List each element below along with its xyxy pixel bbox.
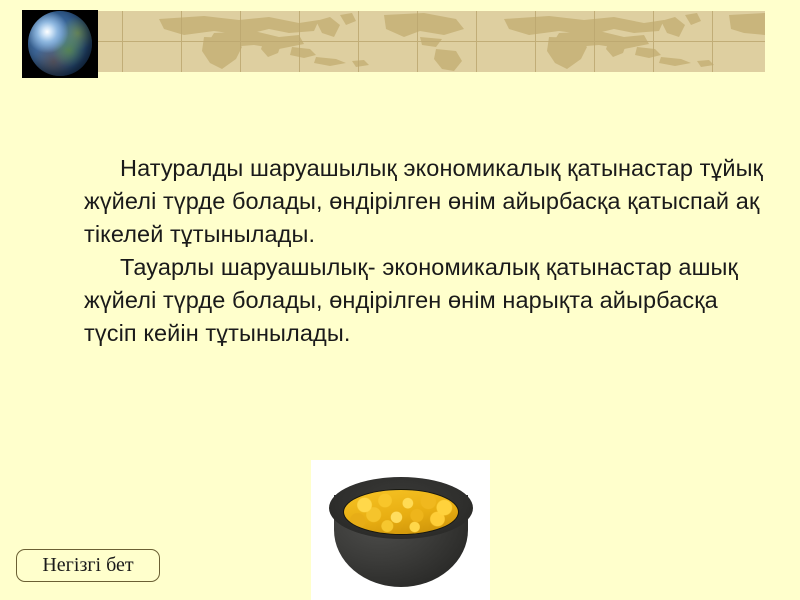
gold-coins-icon: [344, 490, 458, 534]
home-button[interactable]: Негізгі бет: [16, 549, 160, 582]
globe-earth-icon: [28, 11, 92, 76]
world-map-icon: [64, 11, 765, 72]
pot-interior-shape: [343, 489, 459, 535]
pot-rim-shape: [329, 477, 473, 539]
slide-body-text: Натуралды шаруашылық экономикалық қатына…: [84, 152, 774, 350]
paragraph-2: Тауарлы шаруашылық- экономикалық қатынас…: [84, 251, 774, 350]
slide-canvas: Натуралды шаруашылық экономикалық қатына…: [0, 0, 800, 600]
globe-image: [22, 10, 98, 78]
pot-of-gold-image: [311, 460, 490, 600]
pot-illustration: [329, 471, 473, 587]
header-banner: [64, 11, 765, 72]
paragraph-1: Натуралды шаруашылық экономикалық қатына…: [84, 152, 774, 251]
